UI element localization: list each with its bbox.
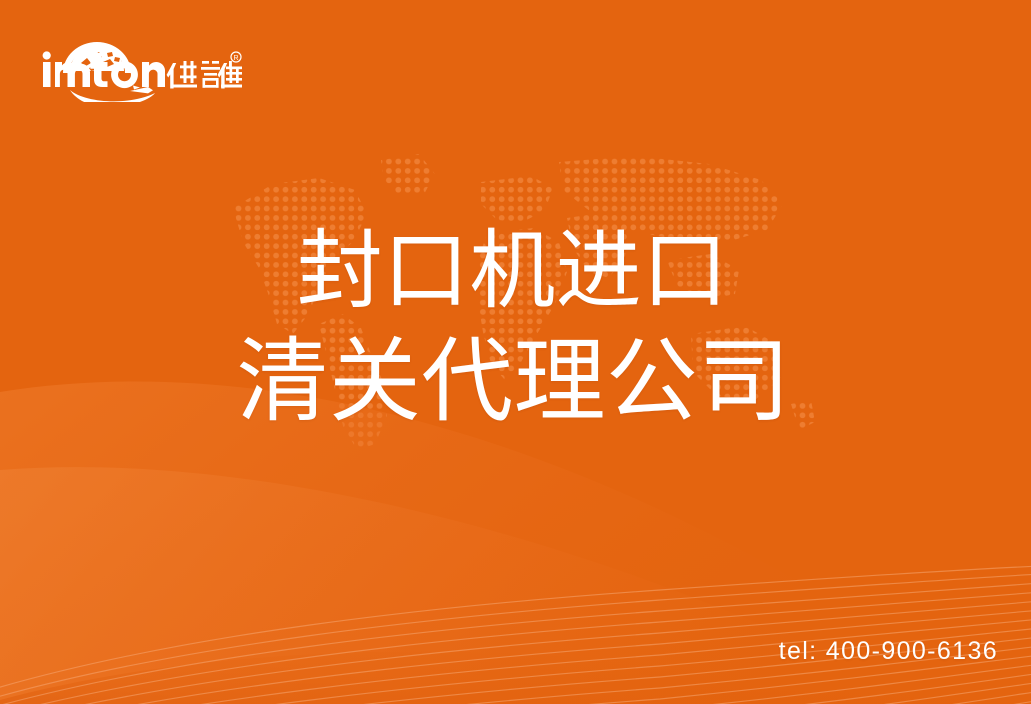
headline-line-2: 清关代理公司 [0,336,1031,428]
telephone-text[interactable]: tel: 400-900-6136 [779,637,998,666]
headline-line-1: 封口机进口 [0,228,1031,314]
svg-text:R: R [233,55,238,62]
registered-trademark-icon: R [231,52,241,62]
swoosh-arrow-icon [70,86,155,103]
promo-banner: R 封口机进口 清关代理公司 tel: 400-900-6136 [0,0,1031,704]
company-logo[interactable]: R [37,27,242,102]
page-title: 封口机进口 清关代理公司 [0,228,1031,428]
chinese-wordmark [167,61,242,89]
